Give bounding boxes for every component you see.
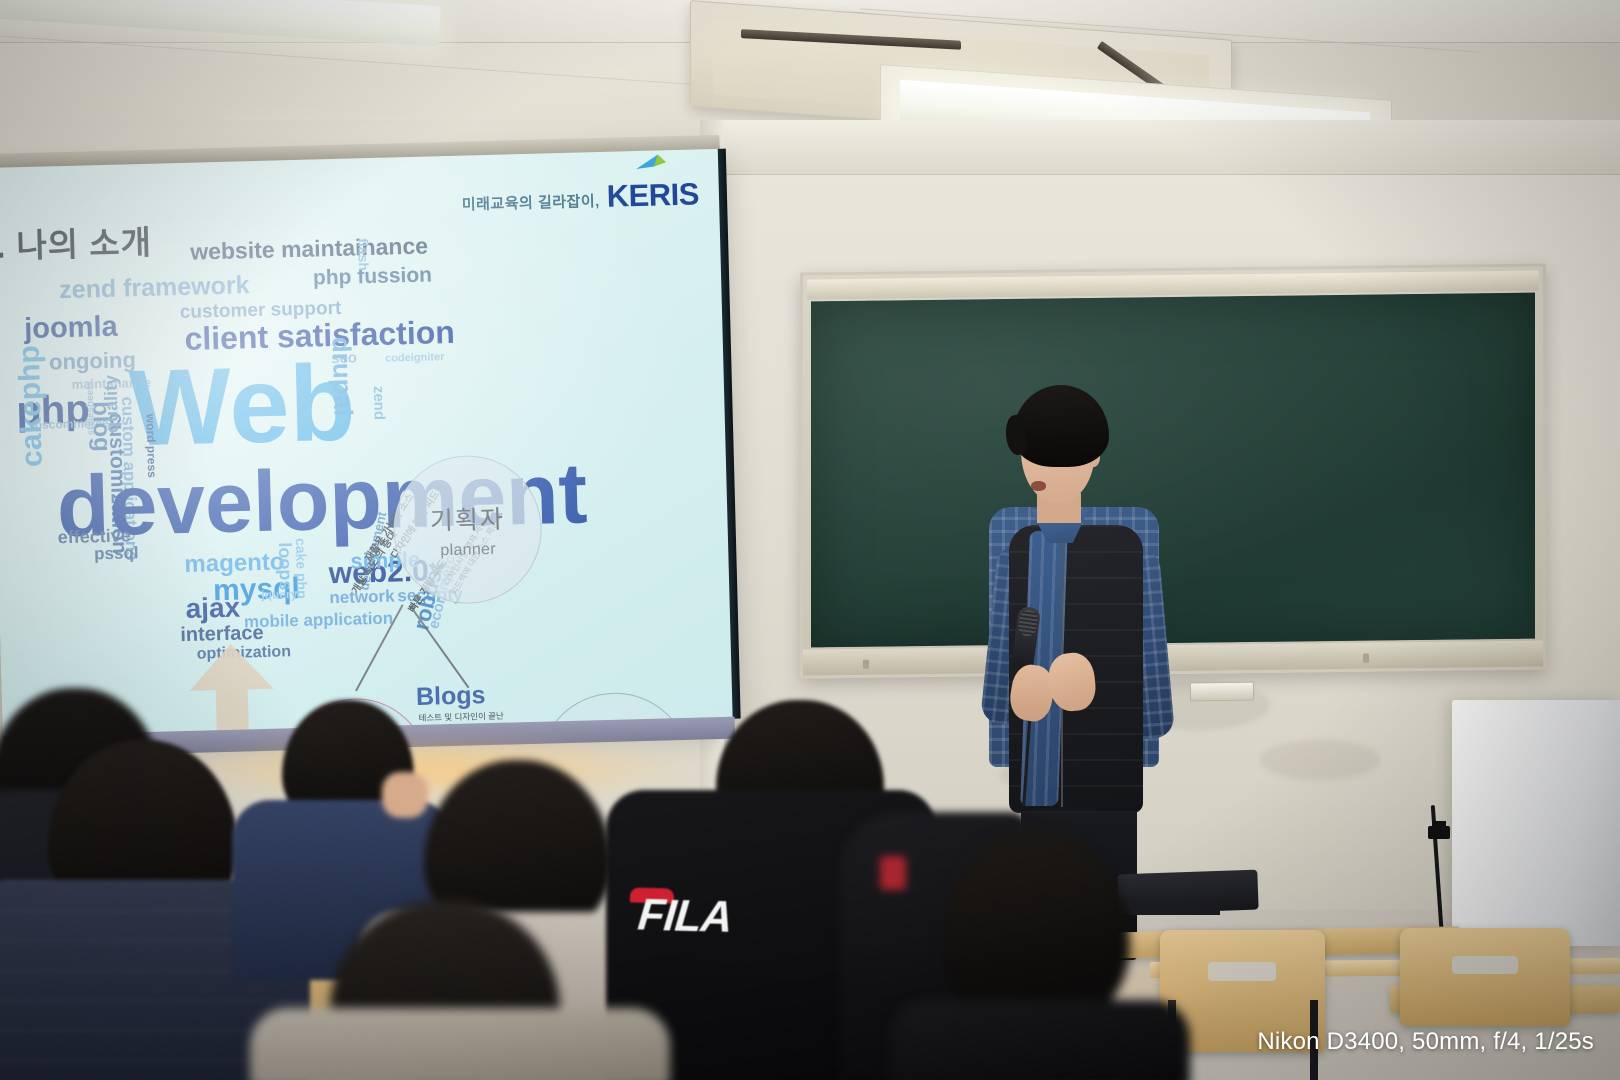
- fila-wordmark: FILA: [636, 891, 734, 943]
- podium: [1452, 700, 1620, 946]
- photo-scene: website maintainancezend frameworkphp fu…: [0, 0, 1620, 1080]
- cable-clip-icon: [1428, 826, 1450, 839]
- projection-screen: website maintainancezend frameworkphp fu…: [0, 149, 735, 738]
- chalk-eraser: [1190, 682, 1254, 702]
- presenter-mouth: [1031, 481, 1046, 491]
- wall-beam: [700, 120, 1620, 175]
- slide-glare: [0, 149, 735, 738]
- back-desk-leg: [1130, 905, 1220, 915]
- chair-back: [1400, 928, 1570, 1026]
- presenter-hair: [1013, 385, 1109, 467]
- ceiling-seam: [1, 36, 699, 86]
- exif-caption: Nikon D3400, 50mm, f/4, 1/25s: [1257, 1028, 1594, 1056]
- presentation-slide: website maintainancezend frameworkphp fu…: [0, 149, 735, 738]
